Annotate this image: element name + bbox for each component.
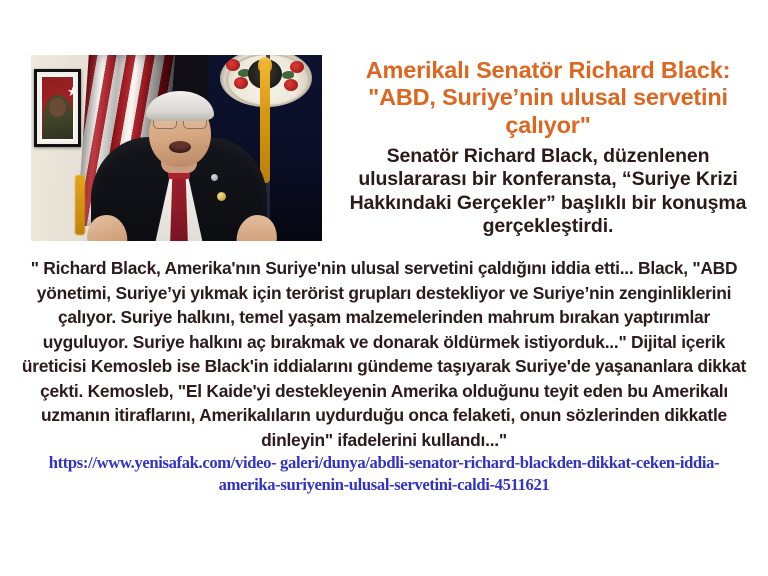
photo-inner: ★ ★ (31, 55, 322, 241)
header-block: ★ ★ (0, 0, 768, 250)
lapel-pin-icon (217, 192, 226, 201)
page-title: Amerikalı Senatör Richard Black: "ABD, S… (336, 57, 760, 139)
seal-leaf (282, 71, 294, 79)
senator-figure (91, 103, 267, 241)
star-icon: ★ (67, 85, 73, 98)
source-url-link[interactable]: https://www.yenisafak.com/video- galeri/… (34, 452, 734, 496)
headline-column: Amerikalı Senatör Richard Black: "ABD, S… (336, 57, 760, 238)
flag-fringe (75, 175, 85, 235)
picture-mat: ★ ★ (40, 75, 75, 141)
subheadline: Senatör Richard Black, düzenlenen ulusla… (336, 145, 760, 239)
mouth (169, 141, 191, 153)
picture-person-face (49, 98, 66, 117)
picture-art: ★ ★ (42, 77, 73, 139)
seal-flower (284, 79, 298, 91)
lapel-pin-icon (211, 174, 218, 181)
seal-flower (234, 77, 248, 89)
seal-flower (226, 59, 240, 71)
news-poster: ★ ★ (0, 0, 768, 576)
article-body: " Richard Black, Amerika'nın Suriye'nin … (14, 256, 754, 452)
framed-wall-photo-icon: ★ ★ (34, 69, 81, 147)
picture-person (43, 95, 73, 139)
senator-photo: ★ ★ (31, 55, 322, 241)
